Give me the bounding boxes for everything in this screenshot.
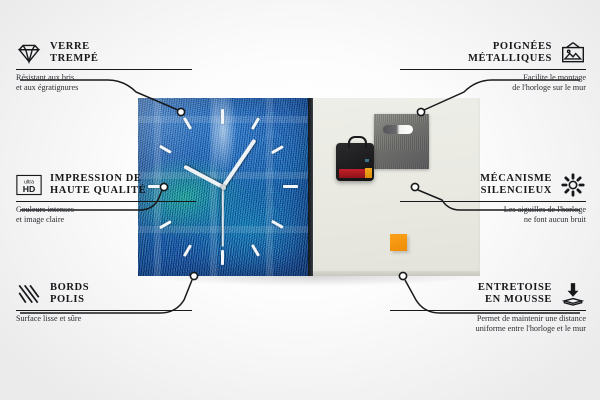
callout-rule	[390, 310, 586, 311]
callout-entretoise-mousse: ENTRETOISE EN MOUSSE Permet de maintenir…	[390, 281, 586, 334]
clock-pivot	[221, 185, 226, 190]
callout-sub-line1: Facilite le montage	[400, 73, 586, 83]
callout-header: MÉCANISME SILENCIEUX	[400, 172, 586, 198]
callout-header: BORDS POLIS	[16, 281, 192, 307]
callout-sub-line2: uniforme entre l'horloge et le mur	[390, 324, 586, 334]
svg-text:HD: HD	[23, 184, 36, 194]
gear-icon	[560, 172, 586, 198]
clock-mechanism	[336, 143, 374, 181]
callout-title: IMPRESSION DE HAUTE QUALITÉ	[50, 173, 146, 198]
callout-title: MÉCANISME SILENCIEUX	[480, 173, 552, 198]
callout-sub-line1: Permet de maintenir une distance	[390, 314, 586, 324]
infographic-canvas: VERRE TREMPÉ Résistant aux bris et aux é…	[0, 0, 600, 400]
arrow-down-layers-icon	[560, 281, 586, 307]
callout-sub-line1: Les aiguilles de l'horloge	[400, 205, 586, 215]
foam-spacer	[390, 234, 407, 251]
callout-title: POIGNÉES MÉTALLIQUES	[468, 41, 552, 66]
second-hand	[222, 187, 224, 247]
callout-sub-line2: et aux égratignures	[16, 83, 192, 93]
callout-header: POIGNÉES MÉTALLIQUES	[400, 40, 586, 66]
callout-header: ENTRETOISE EN MOUSSE	[390, 281, 586, 307]
diamond-icon	[16, 40, 42, 66]
callout-sub-line1: Couleurs intenses	[16, 205, 196, 215]
picture-hanger-icon	[560, 40, 586, 66]
ultra-hd-icon: ultra HD	[16, 172, 42, 198]
polished-edges-icon	[16, 281, 42, 307]
mechanism-label	[365, 159, 369, 162]
callout-rule	[16, 310, 192, 311]
panel-base-strip	[313, 271, 480, 276]
callout-title: BORDS POLIS	[50, 282, 89, 307]
hanging-loop	[348, 136, 367, 148]
callout-impression-hd: ultra HD IMPRESSION DE HAUTE QUALITÉ Cou…	[16, 172, 196, 225]
callout-sub-line2: de l'horloge sur le mur	[400, 83, 586, 93]
metal-hanger-plate	[374, 114, 429, 169]
callout-title: ENTRETOISE EN MOUSSE	[478, 282, 552, 307]
hanger-slot	[383, 125, 413, 134]
callout-title: VERRE TREMPÉ	[50, 41, 99, 66]
callout-sub-line2: et image claire	[16, 215, 196, 225]
callout-poignees-metalliques: POIGNÉES MÉTALLIQUES Facilite le montage…	[400, 40, 586, 93]
battery-terminal	[365, 168, 372, 178]
callout-header: VERRE TREMPÉ	[16, 40, 192, 66]
minute-hand	[221, 139, 256, 188]
callout-sub-line1: Surface lisse et sûre	[16, 314, 192, 324]
battery	[339, 169, 371, 178]
callout-rule	[400, 201, 586, 202]
callout-mecanisme-silencieux: MÉCANISME SILENCIEUX Les aiguilles de l'…	[400, 172, 586, 225]
callout-rule	[16, 201, 196, 202]
callout-verre-trempe: VERRE TREMPÉ Résistant aux bris et aux é…	[16, 40, 192, 93]
callout-bords-polis: BORDS POLIS Surface lisse et sûre	[16, 281, 192, 324]
callout-sub-line2: ne font aucun bruit	[400, 215, 586, 225]
callout-rule	[16, 69, 192, 70]
callout-rule	[400, 69, 586, 70]
callout-header: ultra HD IMPRESSION DE HAUTE QUALITÉ	[16, 172, 196, 198]
callout-sub-line1: Résistant aux bris	[16, 73, 192, 83]
